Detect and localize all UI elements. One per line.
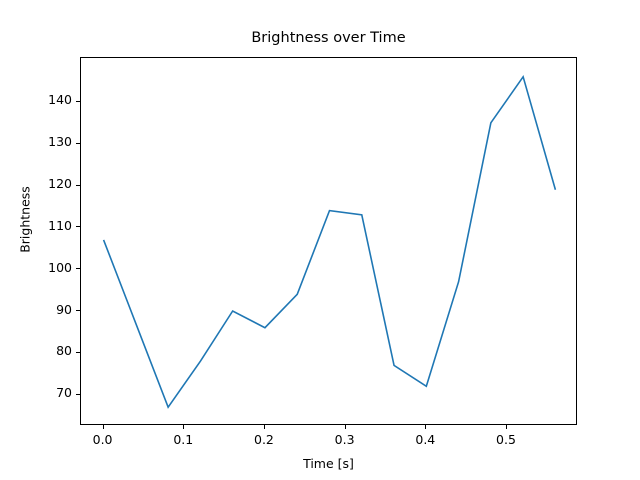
x-axis-tick-mark [506,425,507,429]
x-axis-tick-label: 0.3 [335,434,355,447]
x-axis-tick-label: 0.5 [496,434,516,447]
y-axis-tick-label: 90 [56,304,72,317]
x-axis-tick-label: 0.1 [173,434,193,447]
y-axis-tick-mark [76,310,80,311]
chart-title: Brightness over Time [80,30,577,46]
y-axis-tick-mark [76,394,80,395]
y-axis-tick-label: 130 [48,136,72,149]
y-axis-tick-label: 140 [48,94,72,107]
plot-area [80,57,577,425]
y-axis-tick-label: 120 [48,178,72,191]
y-axis-tick-mark [76,143,80,144]
y-axis-tick-labels: 708090100110120130140 [0,0,72,480]
x-axis-label: Time [s] [80,456,577,471]
matplotlib-figure: Brightness over Time Brightness 70809010… [0,0,640,480]
y-axis-tick-mark [76,268,80,269]
brightness-line-series [104,77,556,407]
y-axis-tick-label: 110 [48,220,72,233]
x-axis-tick-label: 0.0 [93,434,113,447]
y-axis-tick-mark [76,185,80,186]
y-axis-tick-label: 70 [56,387,72,400]
x-axis-tick-mark [425,425,426,429]
x-axis-tick-mark [345,425,346,429]
x-axis-tick-label: 0.4 [415,434,435,447]
y-axis-tick-mark [76,101,80,102]
y-axis-tick-mark [76,226,80,227]
y-axis-tick-label: 100 [48,262,72,275]
x-axis-tick-mark [264,425,265,429]
y-axis-tick-mark [76,352,80,353]
x-axis-tick-label: 0.2 [254,434,274,447]
x-axis-tick-mark [103,425,104,429]
y-axis-tick-label: 80 [56,345,72,358]
line-series-svg [81,58,578,426]
x-axis-tick-mark [183,425,184,429]
